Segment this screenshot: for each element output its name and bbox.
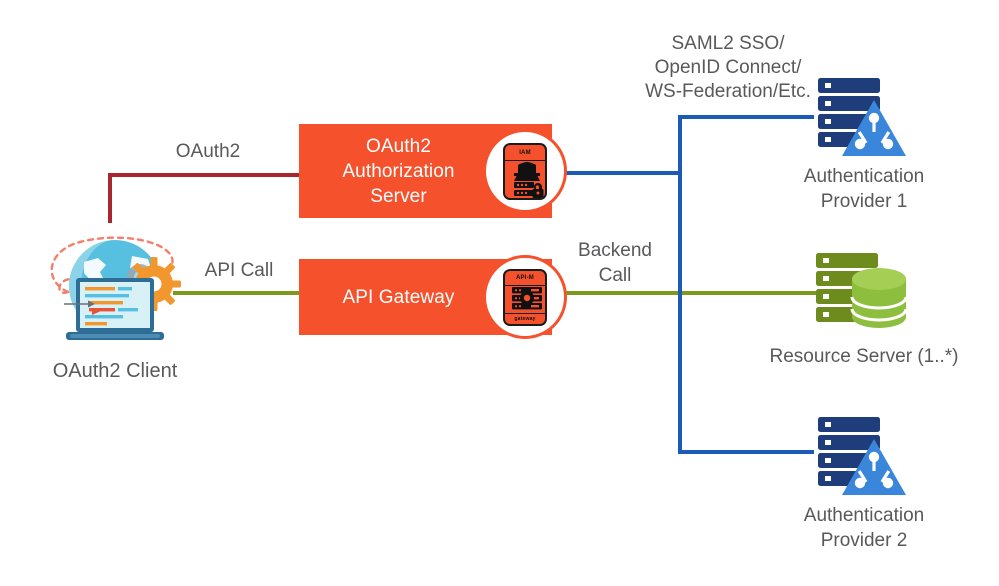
auth-provider-2-label: Authentication Provider 2 xyxy=(740,503,988,553)
apim-chip-top-text: API-M xyxy=(505,275,545,281)
federation-connector-branch-top xyxy=(678,115,814,119)
apim-chip-bottom-text: gateway xyxy=(505,316,545,322)
edge-label-oauth2: OAuth2 xyxy=(128,139,288,164)
iam-chip-top-text: IAM xyxy=(505,150,545,156)
diagram-canvas: OAuth2 API Call Backend Call SAML2 SSO/ … xyxy=(0,0,999,586)
oauth2-client-label: OAuth2 Client xyxy=(10,358,220,384)
federation-connector-branch-bottom xyxy=(678,450,814,454)
edge-label-backend-call: Backend Call xyxy=(548,238,682,288)
auth-provider-1-icon xyxy=(812,76,908,160)
auth-provider-1-label: Authentication Provider 1 xyxy=(740,164,988,214)
federation-connector-trunk xyxy=(552,171,682,175)
authorization-server-icon-bubble: IAM xyxy=(483,129,567,213)
iam-server-lock-icon: IAM xyxy=(503,143,547,200)
api-manager-gateway-icon: API-M gateway xyxy=(503,269,547,326)
auth-provider-2-icon xyxy=(812,415,908,499)
backend-call-connector xyxy=(552,291,817,295)
api-call-connector xyxy=(173,291,303,295)
resource-server-label: Resource Server (1..*) xyxy=(738,344,990,369)
oauth2-connector-horizontal xyxy=(108,173,303,177)
oauth2-client-icon xyxy=(40,222,190,350)
oauth2-connector-vertical xyxy=(108,173,112,223)
api-gateway-icon-bubble: API-M gateway xyxy=(483,255,567,339)
resource-server-icon xyxy=(812,251,908,335)
